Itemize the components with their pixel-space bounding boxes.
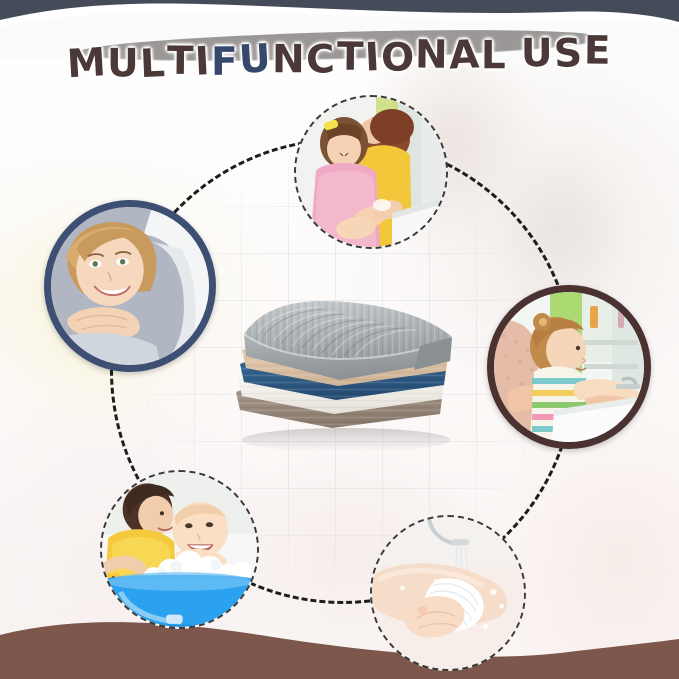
photo-woman-with-towel [44,200,216,372]
poster-canvas: MULTIFUNCTIONAL USE MULTIFUNCTIONAL USE [0,0,679,679]
photo-bottom-right-illustration [372,517,524,669]
page-title: MULTIFUNCTIONAL USE [67,29,613,87]
title-area: MULTIFUNCTIONAL USE MULTIFUNCTIONAL USE [0,24,679,94]
photo-left-illustration [51,207,209,365]
photo-right-illustration [494,292,644,442]
photo-child-reaching-for-faucet [487,285,651,449]
photo-mother-and-girl-washing-hands [294,95,448,249]
page-title-text: MULTIFUNCTIONAL USE [612,24,613,25]
photo-bottom-left-illustration [102,472,257,627]
photo-top-illustration [296,97,446,247]
product-towel-stack [214,288,466,456]
bottom-decorative-band [0,609,679,679]
photo-washing-arm-with-cloth [370,515,526,671]
photo-mother-bathing-baby [100,470,259,629]
